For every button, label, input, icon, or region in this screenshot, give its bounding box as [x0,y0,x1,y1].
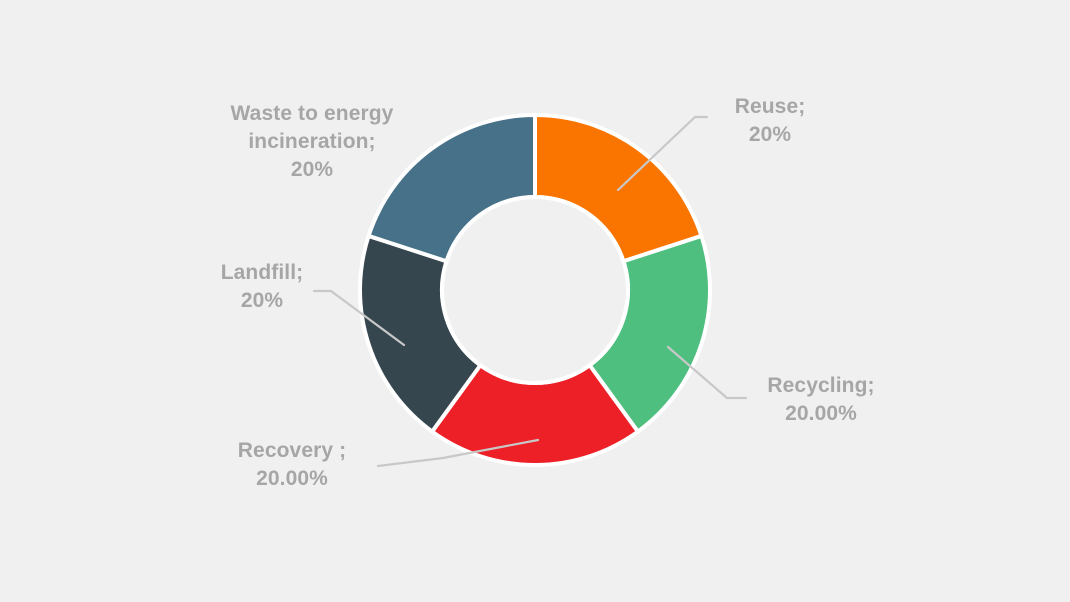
slice-label-recovery: Recovery ; 20.00% [194,437,390,493]
donut-hole [442,197,628,383]
slice-label-waste-to-energy-incineration: Waste to energy incineration; 20% [196,100,428,184]
donut-chart-canvas [0,0,1070,602]
slice-label-reuse: Reuse; 20% [694,93,846,149]
donut-chart: Waste to energy incineration; 20% Reuse;… [0,0,1070,602]
slice-label-recycling: Recycling; 20.00% [738,372,904,428]
slice-label-landfill: Landfill; 20% [190,259,334,315]
